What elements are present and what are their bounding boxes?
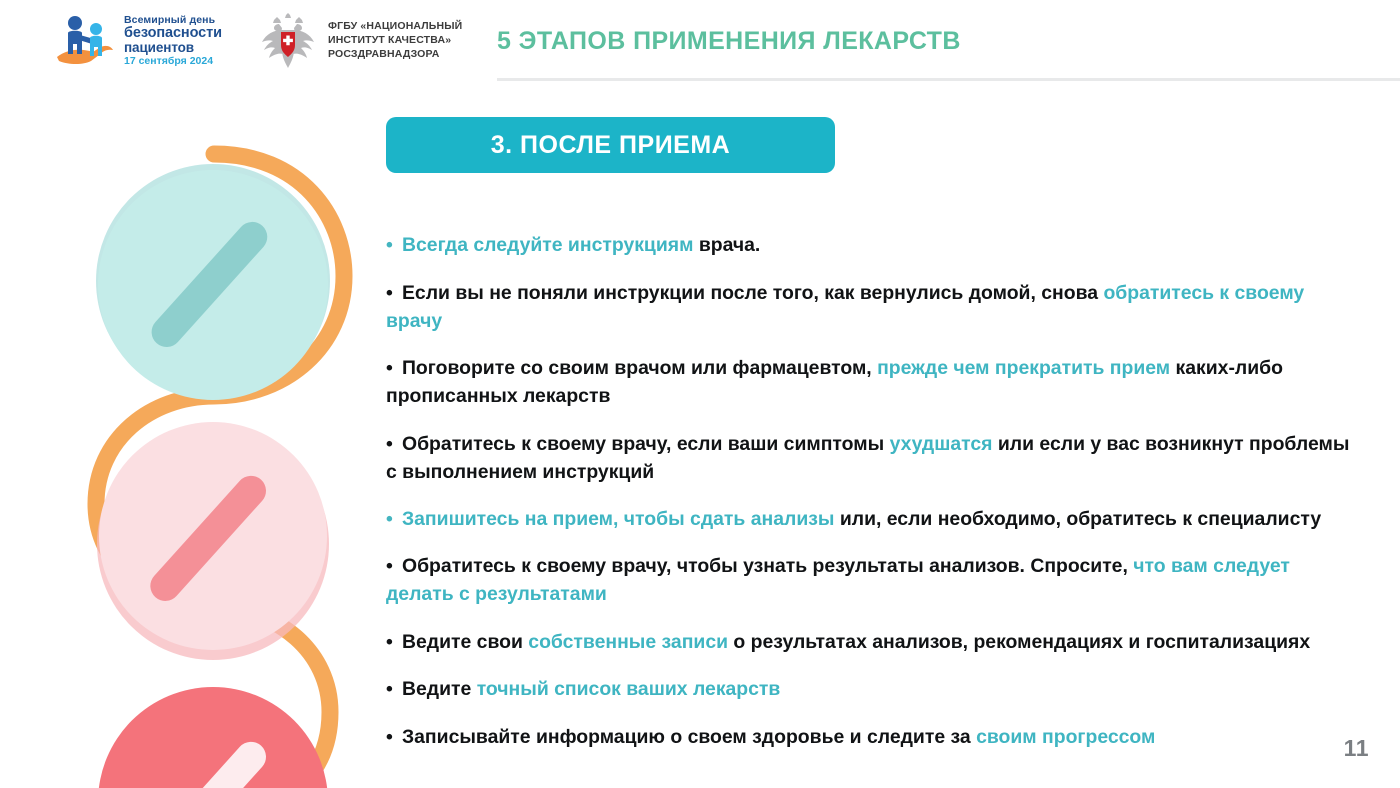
rzn-line1: ФГБУ «НАЦИОНАЛЬНЫЙ	[328, 20, 462, 34]
bullet-marker-icon: •	[386, 675, 402, 703]
bullet-text: Записывайте информацию о своем здоровье …	[402, 726, 976, 748]
bullet-highlight-text: собственные записи	[528, 631, 728, 653]
bullet-marker-icon: •	[386, 430, 402, 458]
bullet-text: о результатах анализов, рекомендациях и …	[728, 631, 1310, 653]
slide: Всемирный день безопасности пациентов 17…	[0, 0, 1400, 788]
bullet-marker-icon: •	[386, 552, 402, 580]
bullet-text: Ведите свои	[402, 631, 528, 653]
bullet-list: •Всегда следуйте инструкциям врача.•Если…	[386, 212, 1351, 762]
bullet-highlight-text: своим прогрессом	[976, 726, 1155, 748]
bullet-text: Обратитесь к своему врачу, чтобы узнать …	[402, 555, 1133, 577]
bullet-highlight-text: прежде чем прекратить прием	[877, 357, 1175, 379]
page-number: 11	[1344, 735, 1369, 762]
bullet-text: Обратитесь к своему врачу, если ваши сим…	[402, 433, 890, 455]
double-headed-eagle-icon	[258, 12, 318, 70]
pill-red	[98, 687, 328, 788]
bullet-text: Ведите	[402, 678, 477, 700]
bullet-text: Если вы не поняли инструкции после того,…	[402, 282, 1103, 304]
bullet-text: или, если необходимо, обратитесь к специ…	[834, 508, 1321, 530]
rzn-line2: ИНСТИТУТ КАЧЕСТВА»	[328, 34, 462, 48]
world-patient-safety-day-logo: Всемирный день безопасности пациентов 17…	[55, 12, 240, 70]
wdps-line3: пациентов	[124, 41, 222, 55]
roszdravnadzor-logo: ФГБУ «НАЦИОНАЛЬНЫЙ ИНСТИТУТ КАЧЕСТВА» РО…	[258, 11, 493, 71]
bullet-text: Поговорите со своим врачом или фармацевт…	[402, 357, 877, 379]
bullet-marker-icon: •	[386, 723, 402, 751]
bullet-marker-icon: •	[386, 279, 402, 307]
section-badge: 3. ПОСЛЕ ПРИЕМА	[386, 117, 835, 173]
bullet-marker-icon: •	[386, 628, 402, 656]
bullet-highlight-text: Запишитесь на прием, чтобы сдать анализы	[402, 508, 834, 530]
bullet-item: •Если вы не поняли инструкции после того…	[386, 279, 1351, 335]
bullet-item: •Ведите точный список ваших лекарств	[386, 675, 1351, 703]
bullet-item: •Запишитесь на прием, чтобы сдать анализ…	[386, 505, 1351, 533]
bullet-text: врача.	[699, 234, 761, 256]
wdps-date: 17 сентября 2024	[124, 56, 222, 67]
rzn-line3: РОСЗДРАВНАДЗОРА	[328, 48, 462, 62]
patient-safety-figures-icon	[55, 13, 117, 69]
pill-pink	[97, 422, 329, 660]
bullet-highlight-text: точный список ваших лекарств	[477, 678, 781, 700]
bullet-highlight-text: ухудшатся	[890, 433, 993, 455]
bullet-item: •Всегда следуйте инструкциям врача.	[386, 231, 1351, 259]
bullet-highlight-text: Всегда следуйте инструкциям	[402, 234, 699, 256]
section-badge-label: 3. ПОСЛЕ ПРИЕМА	[491, 131, 730, 160]
slide-header: Всемирный день безопасности пациентов 17…	[0, 0, 1400, 80]
wdps-line2: безопасности	[124, 26, 222, 41]
bullet-item: •Поговорите со своим врачом или фармацев…	[386, 354, 1351, 410]
bullet-item: •Обратитесь к своему врачу, чтобы узнать…	[386, 552, 1351, 608]
pill-teal	[96, 164, 330, 400]
bullet-marker-icon: •	[386, 505, 402, 533]
bullet-item: •Записывайте информацию о своем здоровье…	[386, 723, 1351, 751]
bullet-item: •Обратитесь к своему врачу, если ваши си…	[386, 430, 1351, 486]
page-title: 5 ЭТАПОВ ПРИМЕНЕНИЯ ЛЕКАРСТВ	[497, 27, 961, 56]
bullet-item: •Ведите свои собственные записи о резуль…	[386, 628, 1351, 656]
bullet-marker-icon: •	[386, 231, 402, 259]
bullet-marker-icon: •	[386, 354, 402, 382]
pills-illustration	[0, 96, 400, 788]
header-divider	[497, 78, 1400, 81]
